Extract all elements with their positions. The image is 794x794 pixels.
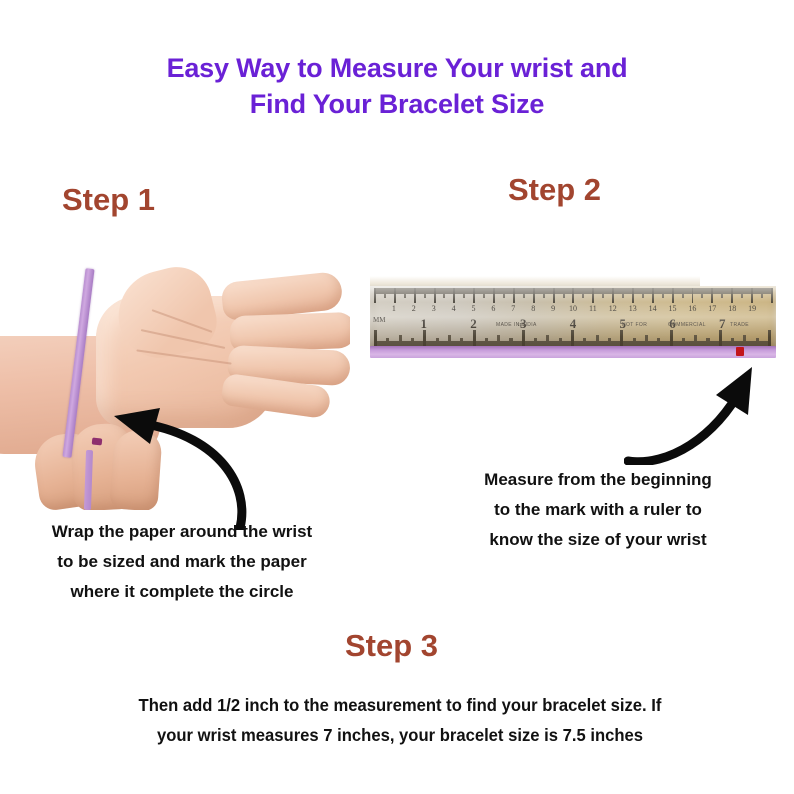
ruler-tick	[771, 288, 773, 303]
ruler-cm-number: 4	[452, 304, 456, 313]
page-title-line1: Easy Way to Measure Your wrist and	[167, 53, 628, 83]
step-2-caption-line2: to the mark with a ruler to	[420, 495, 776, 525]
infographic-page: Easy Way to Measure Your wrist and Find …	[0, 0, 794, 794]
paper-strip-mark	[92, 437, 103, 445]
ruler-inch-number: 1	[421, 316, 428, 332]
ruler-photo: 12345678910111213141516171819 1234567 MM…	[370, 272, 776, 364]
step-1-caption-line2: to be sized and mark the paper	[2, 547, 362, 577]
ruler-cm-number: 17	[708, 304, 716, 313]
ruler-tick	[768, 330, 771, 347]
ruler-cm-number: 5	[472, 304, 476, 313]
step-2-caption-line1: Measure from the beginning	[420, 465, 776, 495]
ruler-stamp-trade: TRADE	[730, 322, 749, 328]
step-1-caption-line3: where it complete the circle	[2, 577, 362, 607]
page-title: Easy Way to Measure Your wrist and Find …	[0, 50, 794, 122]
step-1-caption: Wrap the paper around the wrist to be si…	[2, 517, 362, 607]
ruler-cm-number: 8	[531, 304, 535, 313]
step-2-arrow-icon	[624, 365, 790, 465]
ruler-cm-number: 19	[748, 304, 756, 313]
ruler-inch-numbers: 1234567	[370, 316, 776, 330]
step-3-caption-line1: Then add 1/2 inch to the measurement to …	[77, 690, 723, 720]
ruler-cm-number: 3	[432, 304, 436, 313]
ruler-cm-number: 18	[728, 304, 736, 313]
ruler-inch-number: 2	[470, 316, 477, 332]
ruler-cm-number: 14	[649, 304, 657, 313]
ruler-cm-number: 1	[392, 304, 396, 313]
ruler-inch-ticks	[374, 330, 772, 347]
ruler-inch-number: 7	[719, 316, 726, 332]
ruler-cm-number: 10	[569, 304, 577, 313]
ruler-stamp-not-for: NOT FOR	[622, 322, 647, 328]
ruler-stamp-commercial: COMMERCIAL	[668, 322, 706, 328]
ruler-mm-label: MM	[373, 316, 385, 324]
ruler-cm-number: 2	[412, 304, 416, 313]
ruler-cm-number: 11	[589, 304, 597, 313]
ruler-inch-number: 4	[570, 316, 577, 332]
ruler-cm-number: 16	[688, 304, 696, 313]
ruler-cm-number: 9	[551, 304, 555, 313]
paper-strip-red-mark	[736, 347, 744, 356]
ruler-cm-number: 6	[491, 304, 495, 313]
step-2-caption: Measure from the beginning to the mark w…	[420, 465, 776, 555]
step-1-arrow-icon	[108, 400, 258, 530]
ruler-cm-number: 7	[511, 304, 515, 313]
step-3-caption: Then add 1/2 inch to the measurement to …	[77, 690, 723, 750]
step-2-heading: Step 2	[508, 172, 601, 208]
ruler-stamp-made-in-india: MADE IN INDIA	[496, 322, 537, 328]
page-title-line2: Find Your Bracelet Size	[0, 86, 794, 122]
step-2-caption-line3: know the size of your wrist	[420, 525, 776, 555]
paper-strip-under-ruler	[370, 346, 776, 358]
ruler-cm-number: 13	[629, 304, 637, 313]
ruler-cm-ticks	[374, 288, 772, 303]
ruler-cm-number: 12	[609, 304, 617, 313]
step-3-caption-line2: your wrist measures 7 inches, your brace…	[77, 720, 723, 750]
ruler-cm-number: 15	[669, 304, 677, 313]
step-1-caption-line1: Wrap the paper around the wrist	[2, 517, 362, 547]
step-1-heading: Step 1	[62, 182, 155, 218]
step-3-heading: Step 3	[345, 628, 438, 664]
